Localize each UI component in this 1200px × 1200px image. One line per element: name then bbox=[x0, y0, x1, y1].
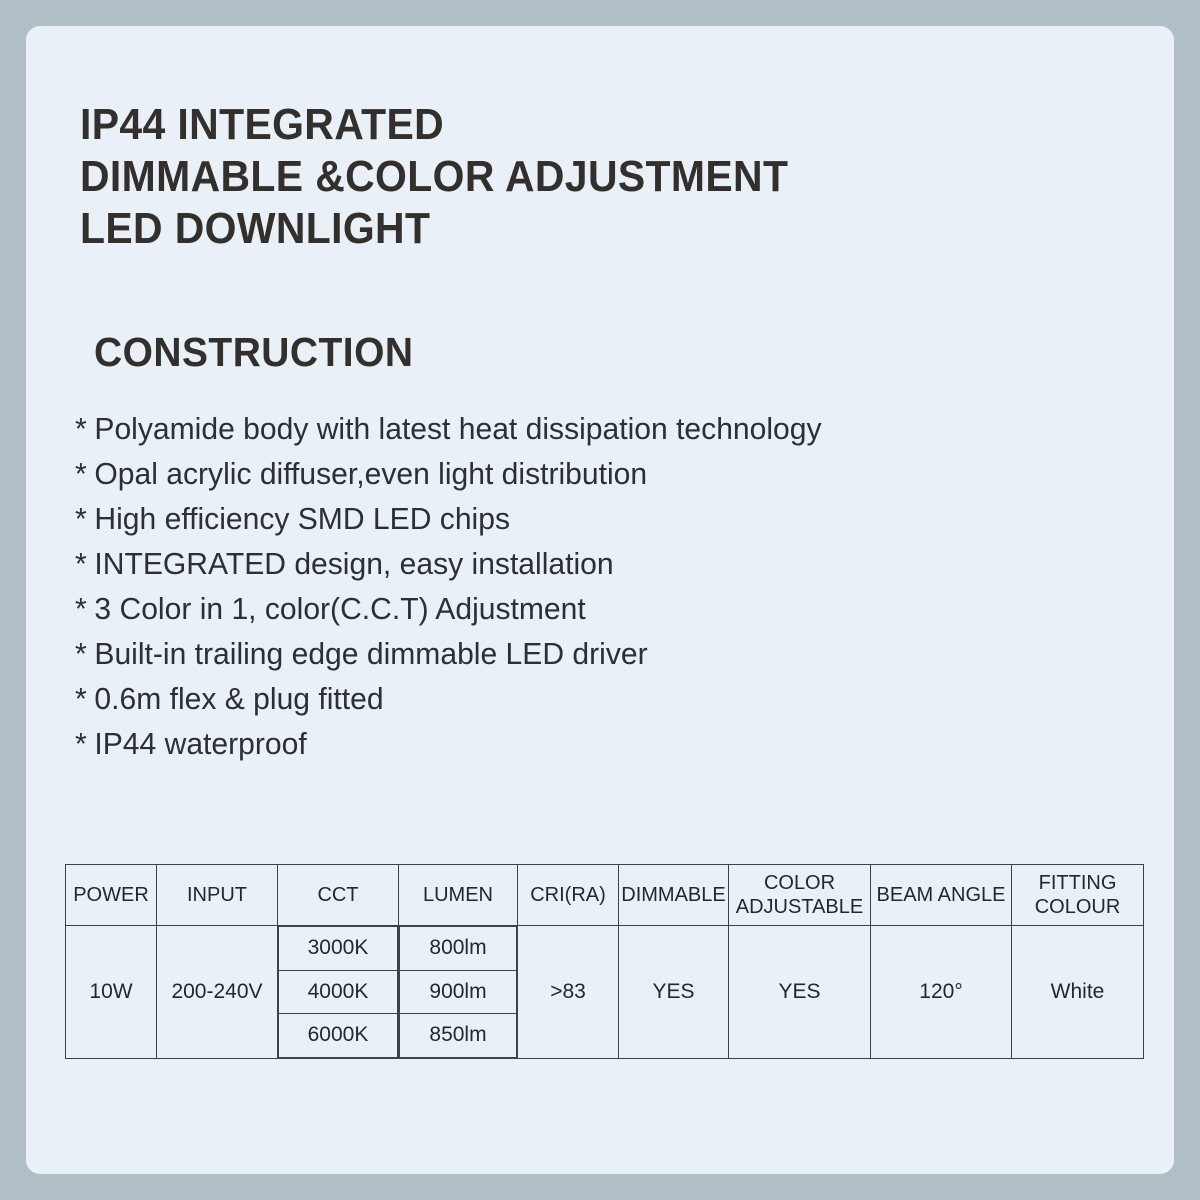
list-item: *Built-in trailing edge dimmable LED dri… bbox=[75, 631, 1103, 676]
list-item: *High efficiency SMD LED chips bbox=[75, 496, 1103, 541]
title-line-2: DIMMABLE &COLOR ADJUSTMENT bbox=[80, 151, 1047, 203]
list-item-label: Opal acrylic diffuser,even light distrib… bbox=[94, 456, 647, 491]
page-title: IP44 INTEGRATED DIMMABLE &COLOR ADJUSTME… bbox=[80, 99, 1120, 255]
cell-color-adjustable: YES bbox=[729, 926, 871, 1059]
table-header-row: POWER INPUT CCT LUMEN CRI(RA) DIMMABLE C… bbox=[66, 865, 1144, 926]
column-header-fitting-colour: FITTING COLOUR bbox=[1012, 865, 1144, 926]
column-header-color-adjustable: COLOR ADJUSTABLE bbox=[729, 865, 871, 926]
bullet-star-icon: * bbox=[75, 586, 94, 631]
list-item-label: IP44 waterproof bbox=[94, 726, 306, 761]
column-header-lumen: LUMEN bbox=[399, 865, 518, 926]
lumen-subtable: 800lm 900lm 850lm bbox=[399, 926, 517, 1058]
list-item: *Opal acrylic diffuser,even light distri… bbox=[75, 451, 1103, 496]
list-item-label: 3 Color in 1, color(C.C.T) Adjustment bbox=[94, 591, 585, 626]
list-item-label: Built-in trailing edge dimmable LED driv… bbox=[94, 636, 647, 671]
product-spec-card: IP44 INTEGRATED DIMMABLE &COLOR ADJUSTME… bbox=[26, 26, 1174, 1174]
list-item: *Polyamide body with latest heat dissipa… bbox=[75, 406, 1103, 451]
cell-lumen-2: 900lm bbox=[400, 970, 517, 1014]
cell-lumen-1: 800lm bbox=[400, 927, 517, 971]
column-header-cct: CCT bbox=[278, 865, 399, 926]
list-item-label: 0.6m flex & plug fitted bbox=[94, 681, 383, 716]
bullet-star-icon: * bbox=[75, 676, 94, 721]
features-list: *Polyamide body with latest heat dissipa… bbox=[75, 406, 1135, 766]
cell-cri: >83 bbox=[518, 926, 619, 1059]
bullet-star-icon: * bbox=[75, 406, 94, 451]
construction-heading: CONSTRUCTION bbox=[94, 329, 413, 376]
cell-cct-2: 4000K bbox=[279, 970, 398, 1014]
specification-table: POWER INPUT CCT LUMEN CRI(RA) DIMMABLE C… bbox=[65, 864, 1144, 1059]
cell-fitting-colour: White bbox=[1012, 926, 1144, 1059]
cell-lumen-3: 850lm bbox=[400, 1014, 517, 1058]
bullet-star-icon: * bbox=[75, 496, 94, 541]
list-item: *IP44 waterproof bbox=[75, 721, 1103, 766]
cell-dimmable: YES bbox=[619, 926, 729, 1059]
column-header-cri: CRI(RA) bbox=[518, 865, 619, 926]
column-header-color-adjustable-line2: ADJUSTABLE bbox=[729, 895, 870, 919]
bullet-star-icon: * bbox=[75, 631, 94, 676]
bullet-star-icon: * bbox=[75, 721, 94, 766]
column-header-fitting-colour-line2: COLOUR bbox=[1012, 895, 1143, 919]
list-item-label: Polyamide body with latest heat dissipat… bbox=[94, 411, 821, 446]
list-item: *0.6m flex & plug fitted bbox=[75, 676, 1103, 721]
column-header-input: INPUT bbox=[157, 865, 278, 926]
cell-power: 10W bbox=[66, 926, 157, 1059]
column-header-dimmable: DIMMABLE bbox=[619, 865, 729, 926]
column-header-beam-angle: BEAM ANGLE bbox=[871, 865, 1012, 926]
cell-lumen-group: 800lm 900lm 850lm bbox=[399, 926, 518, 1059]
bullet-star-icon: * bbox=[75, 451, 94, 496]
list-item: *INTEGRATED design, easy installation bbox=[75, 541, 1103, 586]
list-item: *3 Color in 1, color(C.C.T) Adjustment bbox=[75, 586, 1103, 631]
cell-cct-1: 3000K bbox=[279, 927, 398, 971]
list-item-label: High efficiency SMD LED chips bbox=[94, 501, 510, 536]
cell-cct-3: 6000K bbox=[279, 1014, 398, 1058]
cell-cct-group: 3000K 4000K 6000K bbox=[278, 926, 399, 1059]
cell-input: 200-240V bbox=[157, 926, 278, 1059]
cct-subtable: 3000K 4000K 6000K bbox=[278, 926, 398, 1058]
column-header-power: POWER bbox=[66, 865, 157, 926]
title-line-1: IP44 INTEGRATED bbox=[80, 99, 1047, 151]
bullet-star-icon: * bbox=[75, 541, 94, 586]
table-row: 10W 200-240V 3000K 4000K 6000K 800lm 900… bbox=[66, 926, 1144, 1059]
column-header-color-adjustable-line1: COLOR bbox=[729, 871, 870, 895]
title-line-3: LED DOWNLIGHT bbox=[80, 203, 1047, 255]
column-header-fitting-colour-line1: FITTING bbox=[1012, 871, 1143, 895]
cell-beam-angle: 120° bbox=[871, 926, 1012, 1059]
list-item-label: INTEGRATED design, easy installation bbox=[94, 546, 613, 581]
